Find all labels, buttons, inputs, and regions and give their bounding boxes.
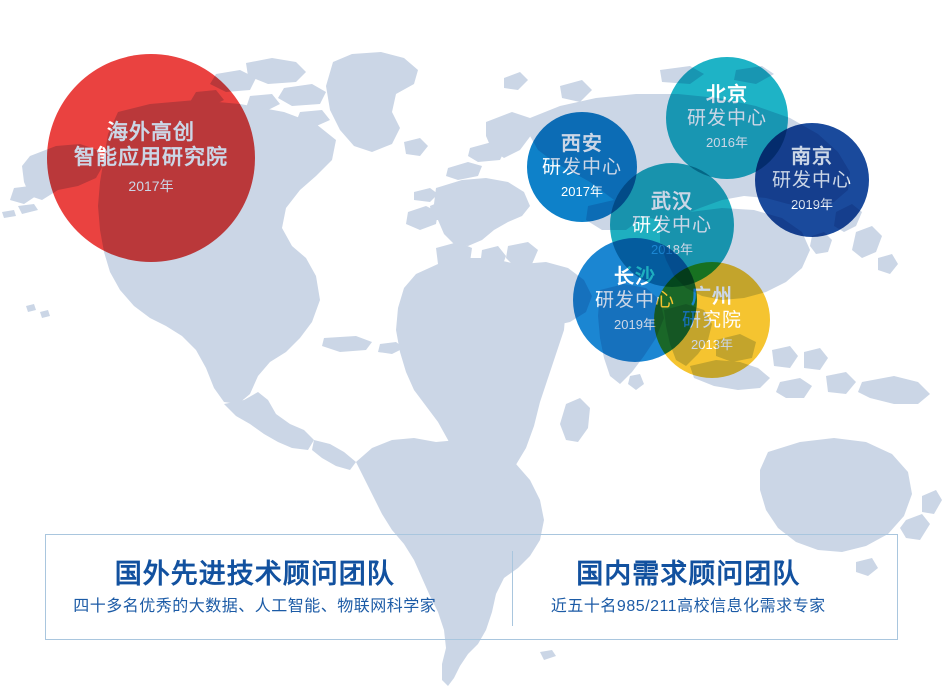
bubble-overseas-year: 2017年: [128, 179, 173, 194]
bubble-guangzhou[interactable]: 广州 研究院 2013年: [654, 262, 770, 378]
bubble-changsha-name: 长沙: [614, 267, 656, 288]
bubble-xian-year: 2017年: [561, 185, 603, 199]
infographic-canvas: 海外高创 智能应用研究院 2017年 北京 研发中心 2016年 南京 研发中心…: [0, 0, 942, 689]
bubble-nanjing-year: 2019年: [791, 198, 833, 212]
panel-overseas-subtitle: 四十多名优秀的大数据、人工智能、物联网科学家: [73, 597, 436, 616]
bubble-beijing-name: 北京: [706, 85, 748, 106]
panel-column-domestic: 国内需求顾问团队 近五十名985/211高校信息化需求专家: [472, 558, 898, 617]
bubble-nanjing-sub: 研发中心: [772, 170, 852, 192]
bubble-beijing-sub: 研发中心: [687, 108, 767, 130]
bubble-guangzhou-sub: 研究院: [682, 310, 742, 332]
bubble-overseas[interactable]: 海外高创 智能应用研究院 2017年: [47, 54, 255, 262]
bubble-overseas-sub: 智能应用研究院: [74, 146, 228, 170]
panel-divider: [512, 551, 513, 626]
bubble-changsha-year: 2019年: [614, 318, 656, 332]
panel-domestic-title: 国内需求顾问团队: [576, 558, 800, 590]
bubble-guangzhou-year: 2013年: [691, 338, 733, 352]
panel-domestic-subtitle: 近五十名985/211高校信息化需求专家: [551, 597, 826, 616]
bubble-overseas-name: 海外高创: [107, 122, 195, 144]
bubble-xian-name: 西安: [561, 134, 603, 155]
bubble-xian-sub: 研发中心: [542, 157, 622, 179]
bubble-wuhan-sub: 研发中心: [632, 215, 712, 237]
bubble-guangzhou-name: 广州: [691, 287, 733, 308]
bubble-nanjing-name: 南京: [791, 147, 833, 168]
bubble-wuhan-name: 武汉: [651, 192, 693, 213]
advisory-team-panel: 国外先进技术顾问团队 四十多名优秀的大数据、人工智能、物联网科学家 国内需求顾问…: [45, 534, 898, 640]
panel-overseas-title: 国外先进技术顾问团队: [115, 558, 395, 590]
bubble-nanjing[interactable]: 南京 研发中心 2019年: [755, 123, 869, 237]
bubble-beijing-year: 2016年: [706, 136, 748, 150]
panel-column-overseas: 国外先进技术顾问团队 四十多名优秀的大数据、人工智能、物联网科学家: [46, 558, 472, 617]
